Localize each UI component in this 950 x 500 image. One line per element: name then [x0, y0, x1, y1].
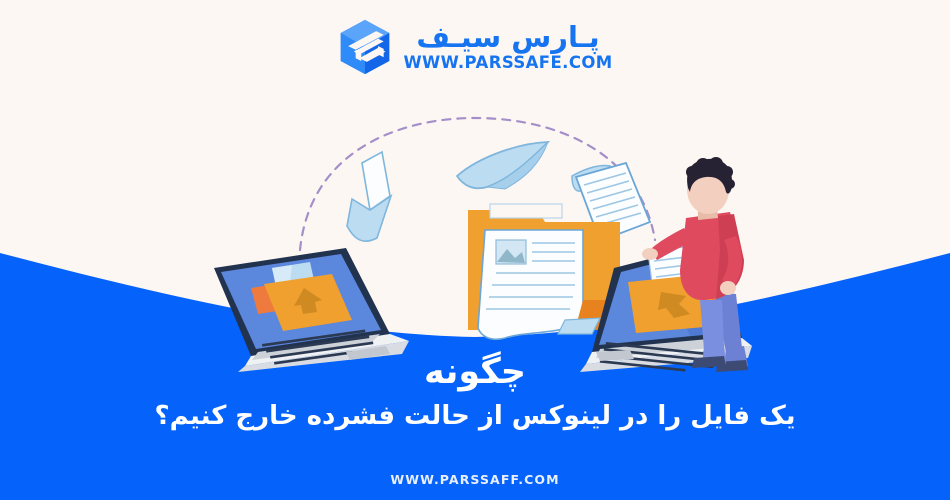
open-folder-with-document	[468, 204, 620, 339]
headline-line-2: یک فایل را در لینوکس از حالت فشرده خارج …	[0, 401, 950, 432]
logo-domain-text: WWW.PARSSAFE.COM	[403, 55, 612, 72]
person-hand-left	[642, 248, 658, 260]
footer-block: WWW.PARSSAFF.COM	[0, 469, 950, 488]
parssafe-cube-logo-icon	[337, 18, 393, 76]
flying-paper-sheet-top	[457, 142, 548, 189]
headline-line-1: چگونه	[0, 352, 950, 392]
headline-block: چگونه یک فایل را در لینوکس از حالت فشرده…	[0, 352, 950, 432]
site-logo[interactable]: پـارس سیـف WWW.PARSSAFE.COM	[0, 8, 950, 86]
logo-persian-name: پـارس سیـف	[416, 23, 599, 52]
banner-root: پـارس سیـف WWW.PARSSAFE.COM چگونه یک فای…	[0, 0, 950, 500]
footer-domain-text: WWW.PARSSAFF.COM	[390, 472, 559, 487]
logo-text-block: پـارس سیـف WWW.PARSSAFE.COM	[403, 23, 612, 72]
flying-paper-sheet-left	[347, 152, 391, 241]
person-hand-right	[720, 281, 736, 295]
